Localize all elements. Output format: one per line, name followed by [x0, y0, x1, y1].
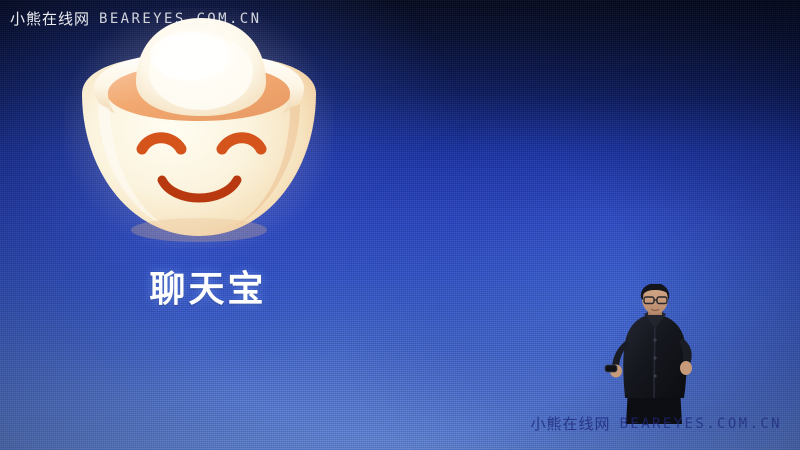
gold-ingot-mascot-icon	[64, 8, 334, 248]
speaker-right-hand	[680, 361, 692, 375]
brand-name-label: 聊天宝	[128, 272, 288, 308]
presentation-clicker	[605, 365, 617, 372]
keynote-speaker	[596, 284, 716, 424]
stage-screenshot: 聊天宝	[0, 0, 800, 450]
